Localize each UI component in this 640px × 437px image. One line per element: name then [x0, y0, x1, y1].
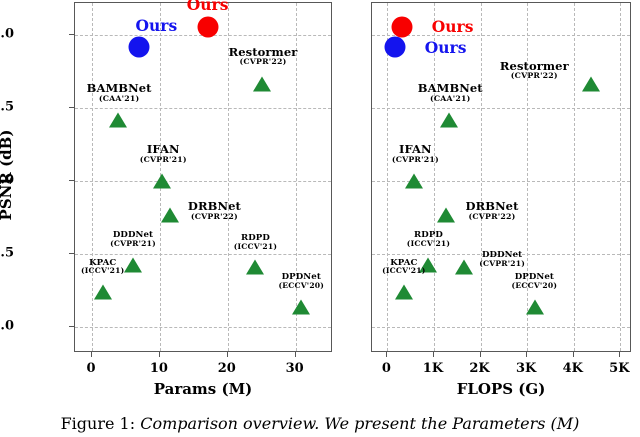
- x-axis-title-flops: FLOPS (G): [371, 380, 631, 398]
- x-tick-mark: [526, 352, 527, 357]
- method-label: BAMBNet(CAA'21): [87, 83, 152, 103]
- x-gridline: [574, 3, 575, 351]
- x-tick-label: 3K: [516, 361, 536, 376]
- x-tick-label: 0: [86, 361, 95, 376]
- x-tick-mark: [573, 352, 574, 357]
- y-gridline: [75, 108, 331, 109]
- method-marker: [124, 257, 142, 272]
- method-marker: [437, 207, 455, 222]
- x-tick-label: 1K: [423, 361, 443, 376]
- method-marker: [455, 260, 473, 275]
- ours-label: Ours: [187, 0, 229, 14]
- x-tick-label: 10: [150, 361, 168, 376]
- y-gridline: [372, 327, 630, 328]
- method-label: RDPD(ICCV'21): [407, 231, 450, 248]
- method-marker: [292, 299, 310, 314]
- method-marker: [440, 113, 458, 128]
- x-axis-title-params: Params (M): [74, 380, 332, 398]
- method-label: DPDNet(ECCV'20): [278, 273, 324, 290]
- y-gridline: [75, 254, 331, 255]
- ours-label: Ours: [136, 16, 178, 35]
- method-label: Restormer(CVPR'22): [500, 61, 569, 81]
- y-tick-mark: [69, 253, 74, 254]
- method-label: BAMBNet(CAA'21): [418, 83, 483, 103]
- method-marker: [94, 285, 112, 300]
- x-tick-mark: [480, 352, 481, 357]
- x-gridline: [481, 3, 482, 351]
- method-label: DRBNet(CVPR'22): [188, 201, 241, 221]
- x-tick-mark: [159, 352, 160, 357]
- figure-container: PSNR (dB) Params (M) 010203025.025.526.0…: [0, 0, 640, 437]
- method-marker: [395, 285, 413, 300]
- y-tick-mark: [69, 107, 74, 108]
- x-tick-label: 2K: [469, 361, 489, 376]
- x-tick-mark: [295, 352, 296, 357]
- flops-panel: FLOPS (G) 01K2K3K4K5KOursOursRestormer(C…: [350, 0, 640, 400]
- ours-marker: [197, 16, 218, 37]
- x-tick-label: 5K: [609, 361, 629, 376]
- method-marker: [253, 76, 271, 91]
- method-label: KPAC(ICCV'21): [382, 259, 425, 276]
- method-marker: [153, 174, 171, 189]
- method-marker: [405, 174, 423, 189]
- y-tick-mark: [69, 326, 74, 327]
- y-gridline: [75, 181, 331, 182]
- y-tick-label: 26.5: [0, 100, 14, 115]
- x-tick-label: 0: [382, 361, 391, 376]
- method-marker: [582, 76, 600, 91]
- figure-caption: Figure 1: Comparison overview. We presen…: [0, 414, 640, 433]
- x-gridline: [620, 3, 621, 351]
- ours-label: Ours: [432, 17, 474, 36]
- method-marker: [161, 207, 179, 222]
- caption-label: Figure 1:: [61, 414, 136, 433]
- method-marker: [526, 299, 544, 314]
- x-tick-label: 4K: [563, 361, 583, 376]
- x-tick-label: 30: [286, 361, 304, 376]
- x-tick-mark: [227, 352, 228, 357]
- ours-label: Ours: [425, 38, 467, 57]
- y-tick-label: 26.0: [0, 172, 14, 187]
- ours-marker: [391, 16, 412, 37]
- method-label: DRBNet(CVPR'22): [466, 201, 519, 221]
- x-tick-mark: [91, 352, 92, 357]
- method-label: IFAN(CVPR'21): [392, 144, 439, 164]
- ours-marker: [128, 37, 149, 58]
- y-gridline: [372, 108, 630, 109]
- y-tick-mark: [69, 34, 74, 35]
- params-panel: PSNR (dB) Params (M) 010203025.025.526.0…: [0, 0, 350, 400]
- method-label: DDDNet(CVPR'21): [479, 251, 525, 268]
- x-tick-mark: [433, 352, 434, 357]
- x-tick-mark: [619, 352, 620, 357]
- y-gridline: [75, 327, 331, 328]
- x-tick-mark: [386, 352, 387, 357]
- method-label: Restormer(CVPR'22): [229, 47, 298, 67]
- y-tick-label: 27.0: [0, 27, 14, 42]
- method-label: DDDNet(CVPR'21): [110, 231, 156, 248]
- caption-text: Comparison overview. We present the Para…: [140, 414, 579, 433]
- y-tick-label: 25.0: [0, 318, 14, 333]
- method-marker: [246, 260, 264, 275]
- method-label: KPAC(ICCV'21): [81, 259, 124, 276]
- method-label: DPDNet(ECCV'20): [512, 273, 558, 290]
- method-marker: [109, 113, 127, 128]
- y-tick-mark: [69, 180, 74, 181]
- x-tick-label: 20: [218, 361, 236, 376]
- y-tick-label: 25.5: [0, 245, 14, 260]
- method-label: IFAN(CVPR'21): [140, 144, 187, 164]
- method-label: RDPD(ICCV'21): [234, 234, 277, 251]
- ours-marker: [384, 37, 405, 58]
